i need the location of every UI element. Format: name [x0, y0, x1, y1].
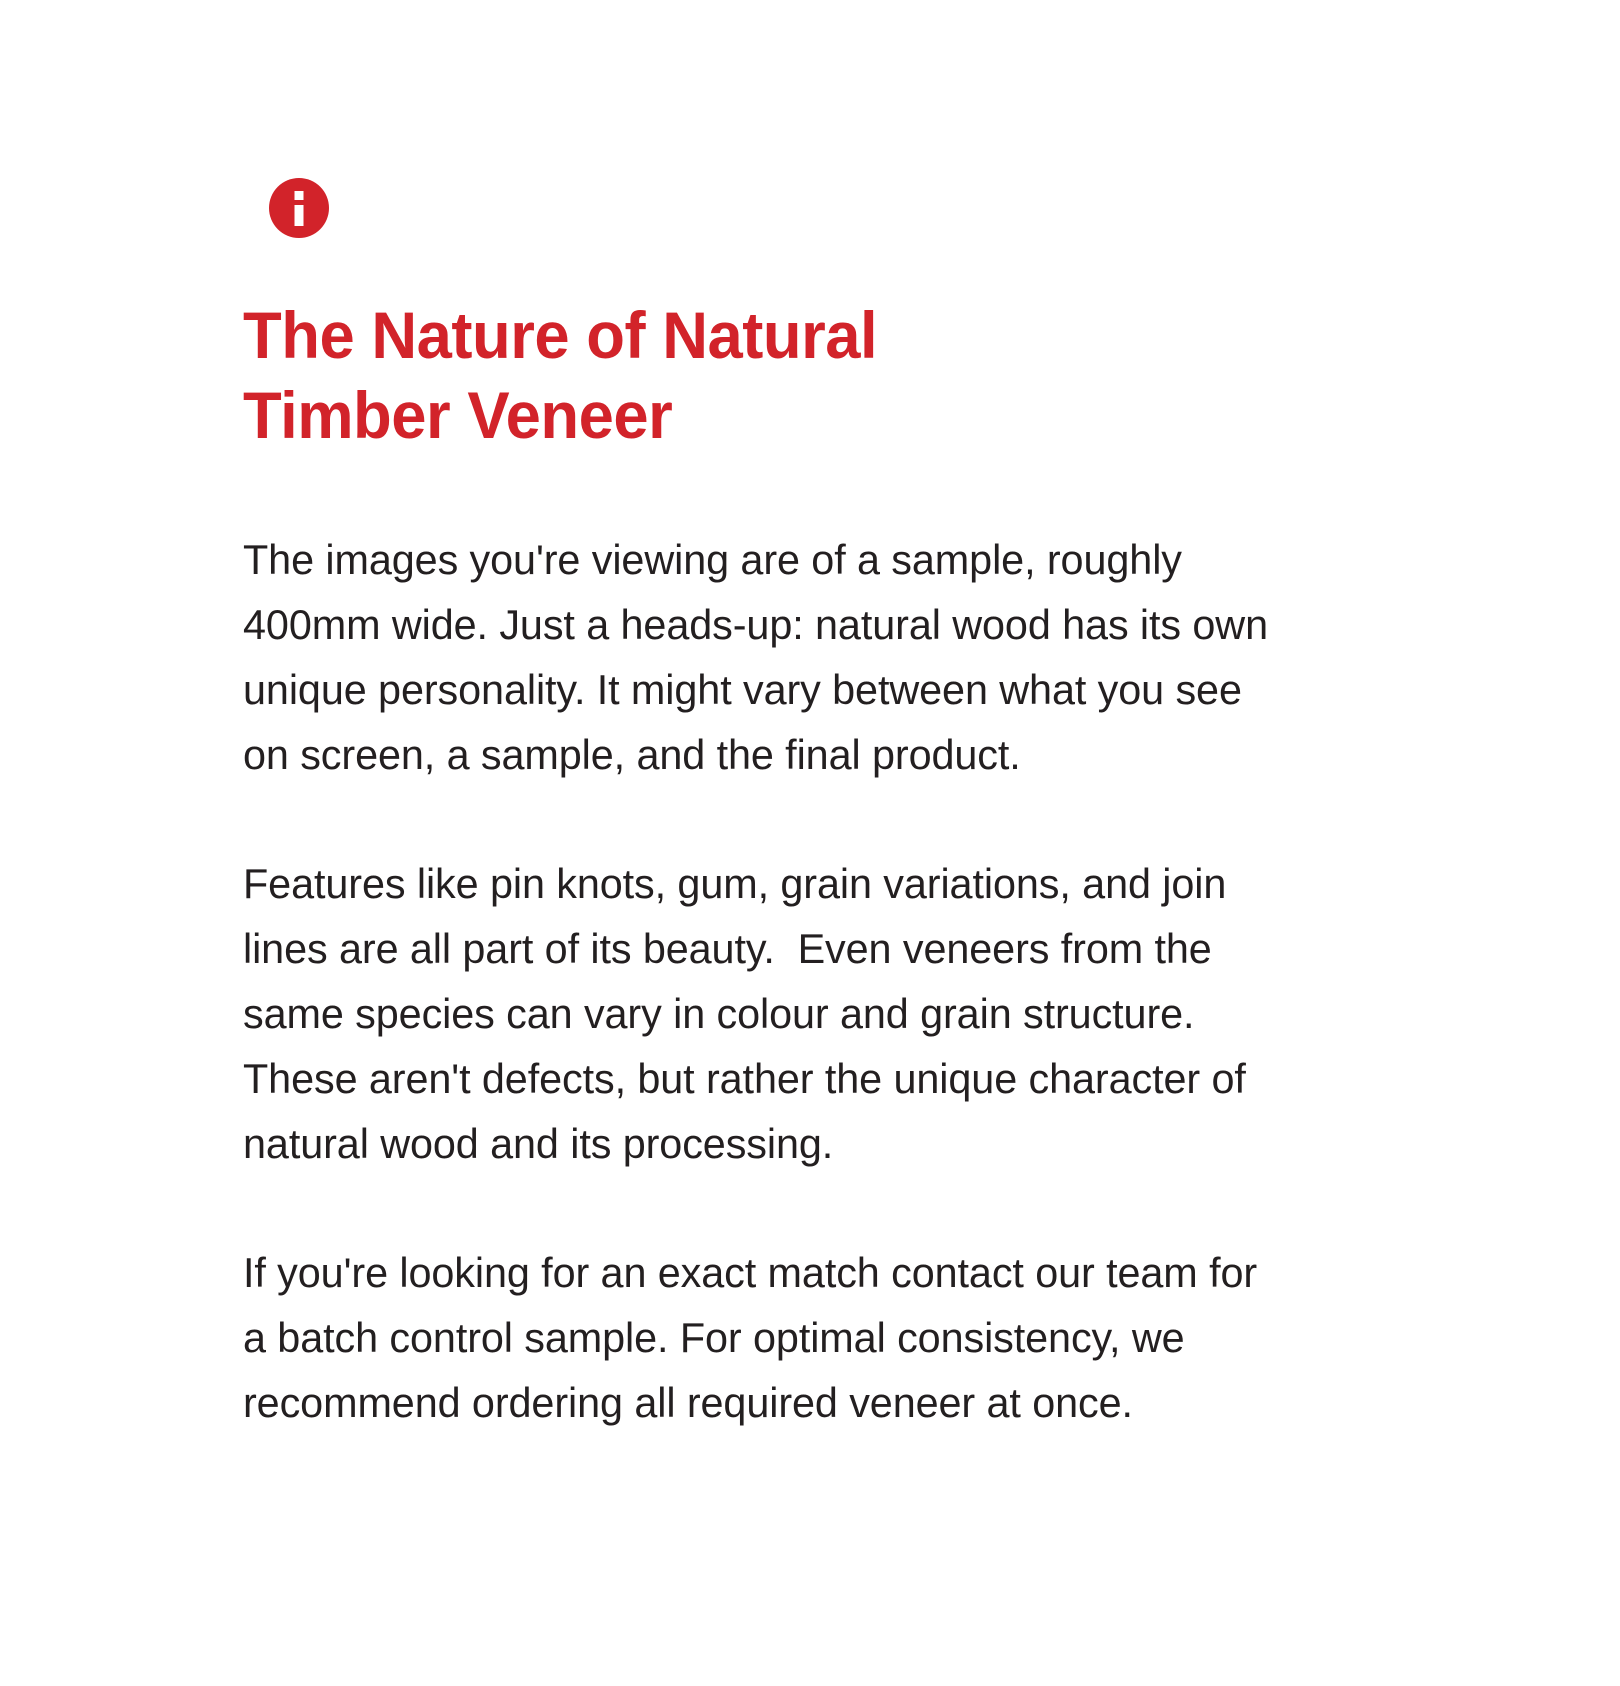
info-icon-stem [295, 205, 304, 226]
content-column: The Nature of Natural Timber Veneer The … [243, 178, 1303, 1435]
info-panel: The Nature of Natural Timber Veneer The … [0, 0, 1620, 1686]
paragraph-natural-features: Features like pin knots, gum, grain vari… [243, 851, 1287, 1176]
info-icon [269, 178, 329, 238]
paragraph-exact-match: If you're looking for an exact match con… [243, 1240, 1287, 1435]
info-icon-dot [295, 191, 304, 200]
paragraph-sample-disclaimer: The images you're viewing are of a sampl… [243, 527, 1287, 787]
body-copy: The images you're viewing are of a sampl… [243, 527, 1303, 1435]
page-title: The Nature of Natural Timber Veneer [243, 295, 1261, 455]
